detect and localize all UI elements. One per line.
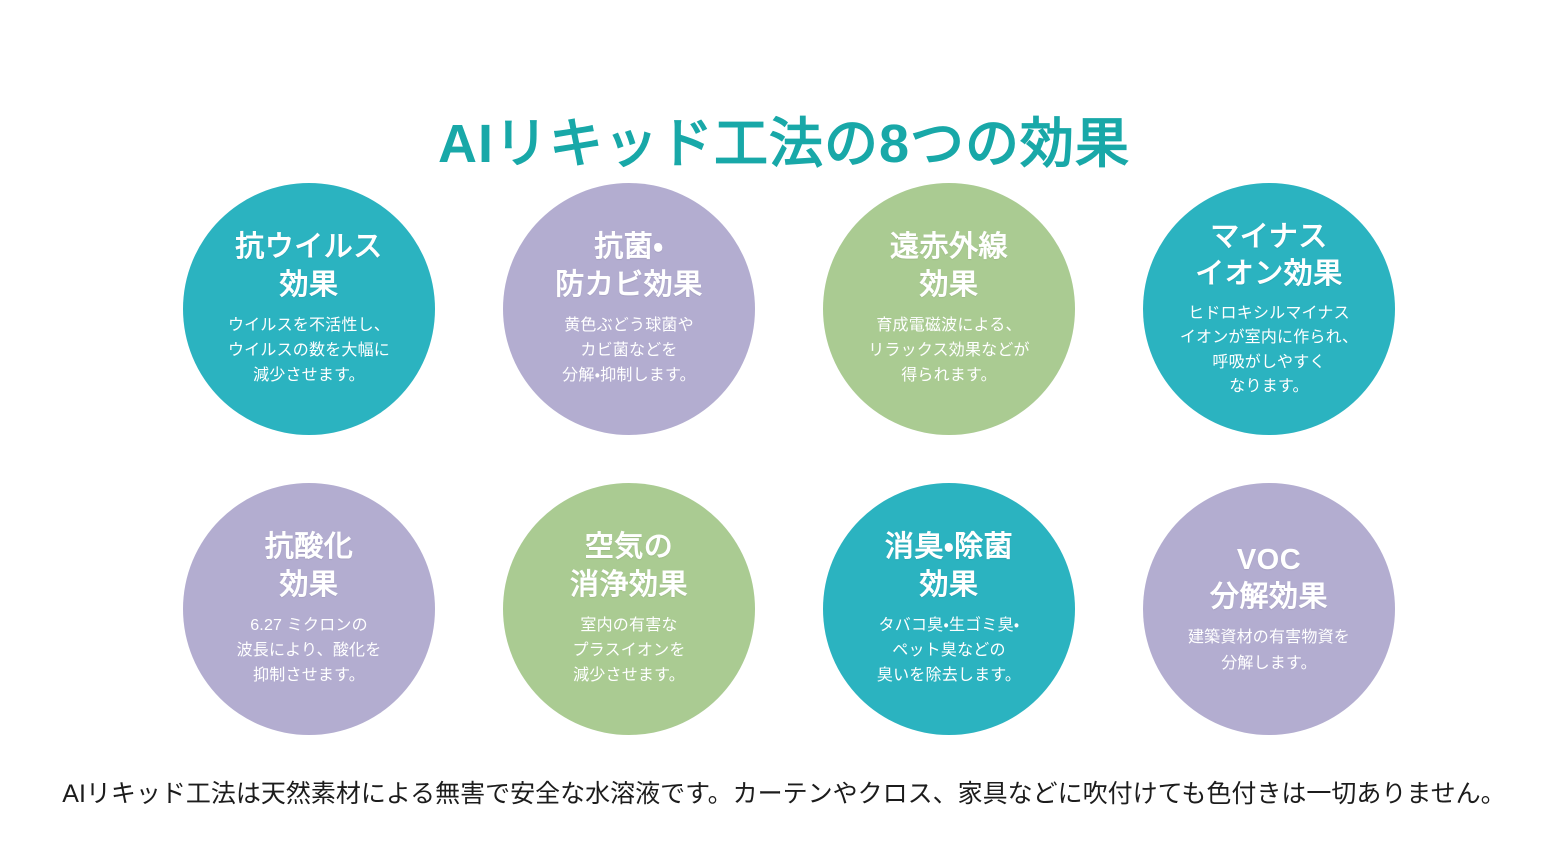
effect-description: 黄色ぶどう球菌や カビ菌などを 分解・抑制します。 <box>562 313 696 389</box>
effect-circle-voc-decomposition[interactable]: VOC 分解効果 建築資材の有害物資を 分解します。 <box>1143 483 1395 735</box>
effect-circle-air-purification[interactable]: 空気の 消浄効果 室内の有害な プラスイオンを 減少させます。 <box>503 483 755 735</box>
page-title: AIリキッド工法の8つの効果 <box>0 114 1568 174</box>
effect-title: 消臭・除菌 効果 <box>885 529 1013 603</box>
effect-title: 抗ウイルス 効果 <box>235 229 383 303</box>
effect-circle-antioxidant[interactable]: 抗酸化 効果 6.27 ミクロンの 波長により、酸化を 抑制させます。 <box>183 483 435 735</box>
effect-description: ヒドロキシルマイナス イオンが室内に作られ、 呼吸がしやすく なります。 <box>1180 302 1358 399</box>
effect-description: 室内の有害な プラスイオンを 減少させます。 <box>572 613 685 689</box>
effect-circle-negative-ion[interactable]: マイナス イオン効果 ヒドロキシルマイナス イオンが室内に作られ、 呼吸がしやす… <box>1143 183 1395 435</box>
effects-circle-grid: 抗ウイルス 効果 ウイルスを不活性し、 ウイルスの数を大幅に 減少させます。 抗… <box>183 183 1405 735</box>
effect-description: 6.27 ミクロンの 波長により、酸化を 抑制させます。 <box>237 613 382 689</box>
effect-title: VOC 分解効果 <box>1210 542 1328 616</box>
effect-description: 建築資材の有害物資を 分解します。 <box>1188 625 1350 676</box>
effect-title: マイナス イオン効果 <box>1195 219 1343 293</box>
effect-circle-antibacterial-antimold[interactable]: 抗菌・ 防カビ効果 黄色ぶどう球菌や カビ菌などを 分解・抑制します。 <box>503 183 755 435</box>
effect-description: タバコ臭・生ゴミ臭・ ペット臭などの 臭いを除去します。 <box>877 613 1021 689</box>
effect-title: 遠赤外線 効果 <box>890 229 1008 303</box>
effect-circle-deodorize-sterilize[interactable]: 消臭・除菌 効果 タバコ臭・生ゴミ臭・ ペット臭などの 臭いを除去します。 <box>823 483 1075 735</box>
effect-description: ウイルスを不活性し、 ウイルスの数を大幅に 減少させます。 <box>228 313 390 389</box>
footer-note: AIリキッド工法は天然素材による無害で安全な水溶液です。カーテンやクロス、家具な… <box>0 778 1568 811</box>
effect-title: 空気の 消浄効果 <box>570 529 688 603</box>
infographic-poster: AIリキッド工法の8つの効果 抗ウイルス 効果 ウイルスを不活性し、 ウイルスの… <box>0 0 1568 845</box>
effect-title: 抗酸化 効果 <box>265 529 354 603</box>
effect-description: 育成電磁波による、 リラックス効果などが 得られます。 <box>868 313 1030 389</box>
effect-circle-anti-virus[interactable]: 抗ウイルス 効果 ウイルスを不活性し、 ウイルスの数を大幅に 減少させます。 <box>183 183 435 435</box>
effect-circle-far-infrared[interactable]: 遠赤外線 効果 育成電磁波による、 リラックス効果などが 得られます。 <box>823 183 1075 435</box>
effect-title: 抗菌・ 防カビ効果 <box>555 229 703 303</box>
